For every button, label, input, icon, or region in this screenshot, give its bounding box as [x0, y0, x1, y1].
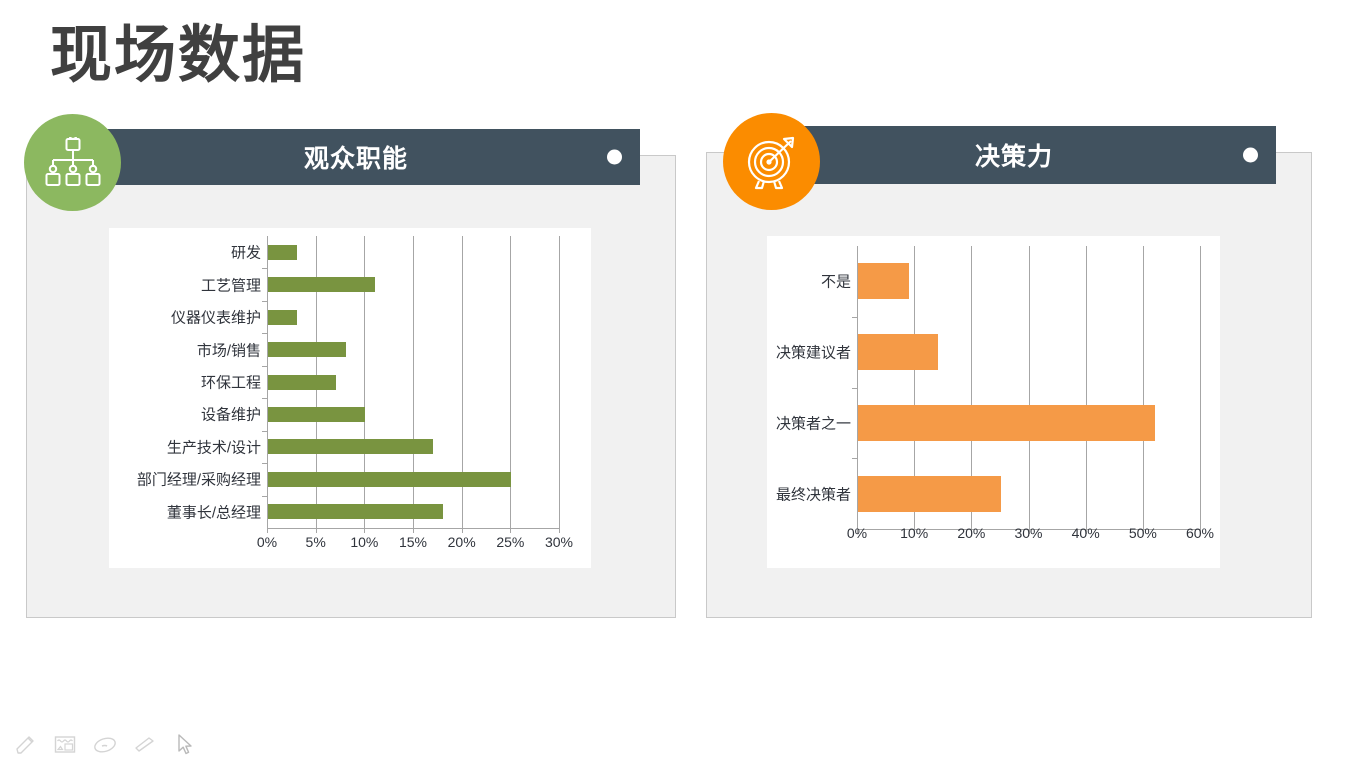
category-label: 工艺管理: [111, 274, 261, 295]
bar: [268, 407, 365, 422]
x-axis-tick-label: 60%: [1186, 525, 1214, 541]
bar: [268, 310, 297, 325]
panel-header-right[interactable]: 决策力: [752, 126, 1276, 184]
category-label: 决策者之一: [763, 412, 851, 433]
bar: [858, 405, 1155, 441]
bar: [268, 439, 433, 454]
x-axis-tick-label: 30%: [545, 534, 573, 550]
y-tick-mark: [262, 496, 267, 497]
cursor-icon[interactable]: [172, 732, 198, 758]
bar: [268, 245, 297, 260]
gridline: [1143, 246, 1144, 529]
category-label: 仪器仪表维护: [111, 307, 261, 328]
y-tick-mark: [852, 317, 857, 318]
bar: [268, 342, 346, 357]
x-axis-tick-label: 50%: [1129, 525, 1157, 541]
y-tick-mark: [262, 268, 267, 269]
plot-area-left: 研发工艺管理仪器仪表维护市场/销售环保工程设备维护生产技术/设计部门经理/采购经…: [267, 236, 559, 528]
bar: [268, 375, 336, 390]
eraser-icon[interactable]: [132, 732, 158, 758]
slide-canvas: 现场数据 观众职能: [0, 0, 1358, 768]
lasso-icon[interactable]: [92, 732, 118, 758]
badge-audience-function: [24, 114, 121, 211]
screen-icon[interactable]: [52, 732, 78, 758]
x-axis-tick-label: 5%: [306, 534, 326, 550]
ink-toolbar: [12, 732, 198, 758]
x-tick-mark: [559, 528, 560, 533]
x-axis-tick-label: 25%: [496, 534, 524, 550]
header-dot-left[interactable]: [607, 150, 622, 165]
category-label: 设备维护: [111, 404, 261, 425]
bar: [268, 277, 375, 292]
pen-icon[interactable]: [12, 732, 38, 758]
plot-area-right: 不是决策建议者决策者之一最终决策者: [857, 246, 1200, 529]
y-tick-mark: [262, 301, 267, 302]
x-axis-tick-label: 40%: [1072, 525, 1100, 541]
category-label: 市场/销售: [111, 339, 261, 360]
x-axis-tick-label: 15%: [399, 534, 427, 550]
header-dot-right[interactable]: [1243, 148, 1258, 163]
x-axis-tick-label: 20%: [957, 525, 985, 541]
x-axis-tick-label: 10%: [350, 534, 378, 550]
bar: [268, 504, 443, 519]
category-label: 不是: [763, 271, 851, 292]
bar: [858, 334, 938, 370]
x-axis-tick-label: 30%: [1014, 525, 1042, 541]
category-label: 环保工程: [111, 372, 261, 393]
target-icon: [743, 134, 801, 190]
chart-audience-function: 研发工艺管理仪器仪表维护市场/销售环保工程设备维护生产技术/设计部门经理/采购经…: [109, 228, 591, 568]
category-label: 生产技术/设计: [111, 436, 261, 457]
y-tick-mark: [262, 333, 267, 334]
badge-decision-power: [723, 113, 820, 210]
x-axis-tick-label: 10%: [900, 525, 928, 541]
y-tick-mark: [852, 458, 857, 459]
bar: [268, 472, 511, 487]
gridline: [1200, 246, 1201, 529]
x-axis-line: [267, 528, 559, 529]
category-label: 研发: [111, 242, 261, 263]
panel-title-right: 决策力: [752, 137, 1276, 173]
chart-decision-power: 不是决策建议者决策者之一最终决策者 0%10%20%30%40%50%60%: [767, 236, 1220, 568]
category-label: 部门经理/采购经理: [111, 469, 261, 490]
panel-title-left: 观众职能: [72, 139, 640, 175]
x-axis-tick-label: 20%: [448, 534, 476, 550]
org-chart-icon: [44, 137, 102, 189]
panel-header-left[interactable]: 观众职能: [72, 129, 640, 185]
category-label: 董事长/总经理: [111, 501, 261, 522]
gridline: [559, 236, 560, 528]
gridline: [1086, 246, 1087, 529]
y-tick-mark: [852, 388, 857, 389]
x-axis-tick-label: 0%: [847, 525, 867, 541]
page-title: 现场数据: [50, 21, 306, 91]
y-tick-mark: [262, 463, 267, 464]
gridline: [1029, 246, 1030, 529]
y-tick-mark: [262, 366, 267, 367]
x-axis-tick-label: 0%: [257, 534, 277, 550]
category-label: 最终决策者: [763, 483, 851, 504]
category-label: 决策建议者: [763, 342, 851, 363]
y-tick-mark: [262, 398, 267, 399]
y-tick-mark: [262, 431, 267, 432]
bar: [858, 263, 909, 299]
bar: [858, 476, 1001, 512]
